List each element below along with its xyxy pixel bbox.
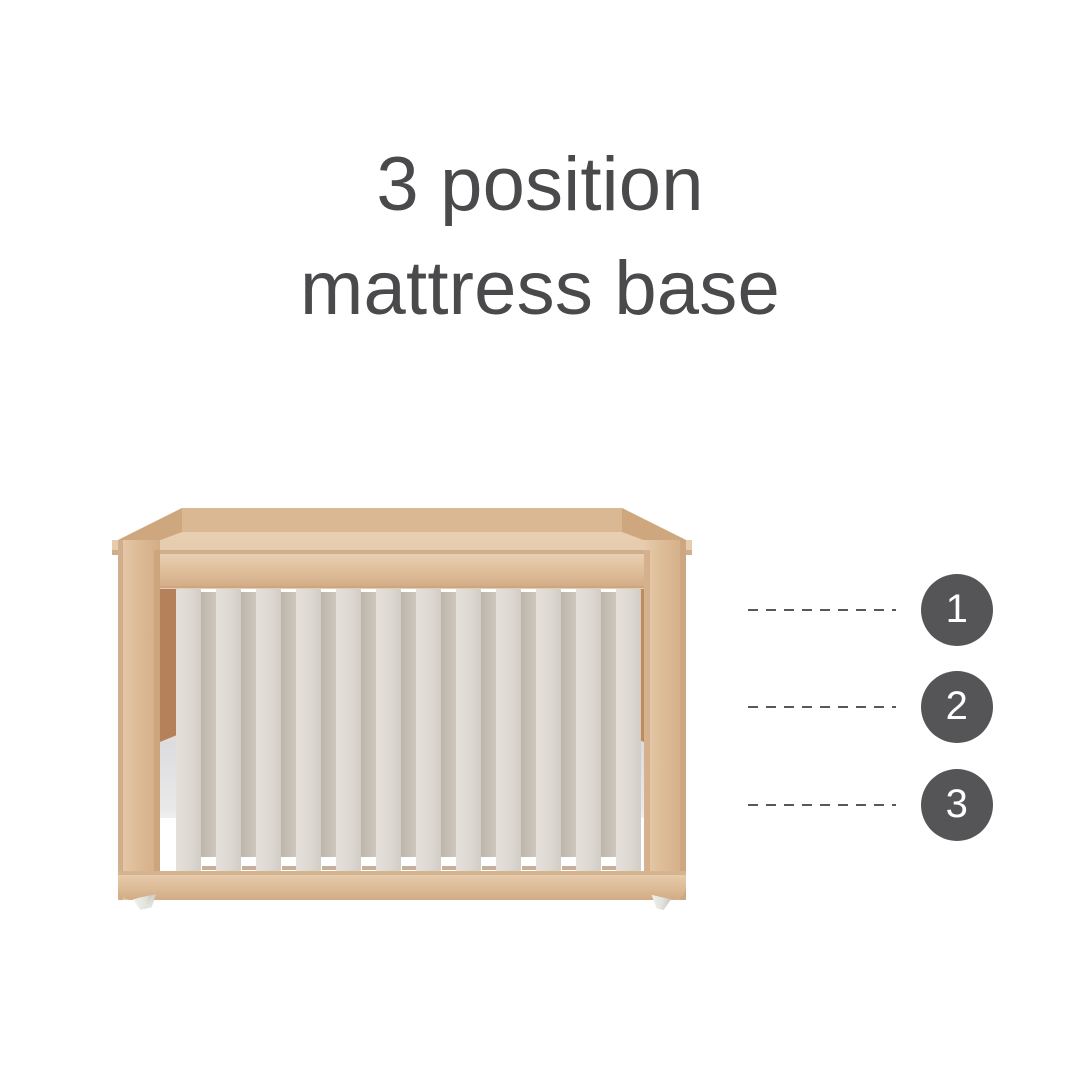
callout-position-2: 2 <box>748 671 993 743</box>
crib-left-post <box>118 540 160 900</box>
page-title: 3 position mattress base <box>0 133 1080 341</box>
callout-badge-1[interactable]: 1 <box>921 574 993 646</box>
callout-position-1: 1 <box>748 574 993 646</box>
crib-bottom-rail <box>118 871 686 900</box>
product-feature-graphic: 3 position mattress base <box>0 0 1080 1080</box>
crib-illustration <box>110 500 710 910</box>
crib-top-rail <box>112 540 692 589</box>
crib-right-post <box>644 540 686 900</box>
callout-badge-3[interactable]: 3 <box>921 769 993 841</box>
crib-svg <box>110 500 710 910</box>
callout-position-3: 3 <box>748 769 993 841</box>
title-line-2: mattress base <box>0 237 1080 341</box>
callout-dashed-line-1 <box>748 609 896 611</box>
callout-dashed-line-3 <box>748 804 896 806</box>
callout-dashed-line-2 <box>748 706 896 708</box>
callout-badge-2[interactable]: 2 <box>921 671 993 743</box>
title-line-1: 3 position <box>0 133 1080 237</box>
